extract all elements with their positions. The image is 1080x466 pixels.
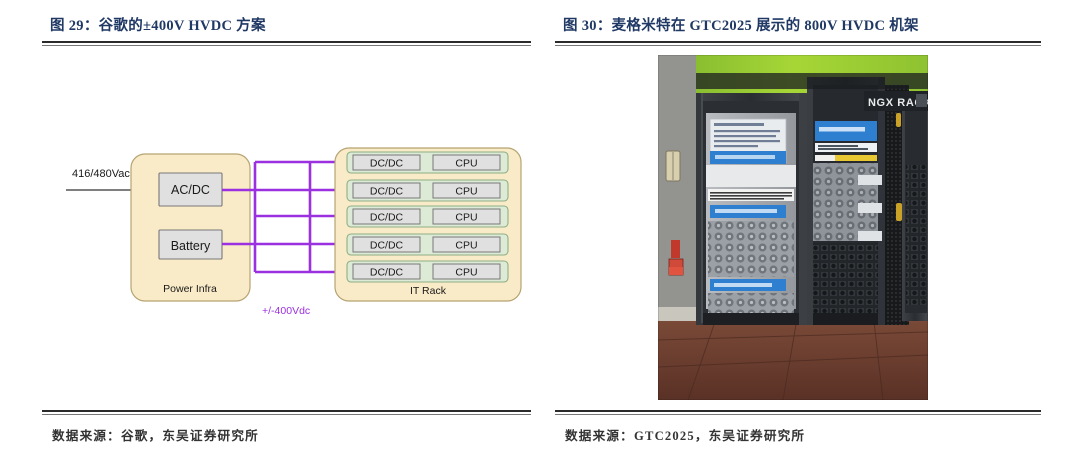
figure-29-source: 数据来源：谷歌，东吴证券研究所 xyxy=(52,425,259,444)
server-row: DC/DC CPU xyxy=(347,234,508,255)
figure-panel-right: 图 30：麦格米特在 GTC2025 展示的 800V HVDC 机架 xyxy=(555,0,1041,466)
cpu-label: CPU xyxy=(455,186,477,198)
cpu-label: CPU xyxy=(455,158,477,170)
power-infra-caption: Power Infra xyxy=(163,283,217,295)
dc-dc-label: DC/DC xyxy=(370,267,404,279)
dc-dc-label: DC/DC xyxy=(370,212,404,224)
shelf-label xyxy=(858,175,882,241)
server-row: DC/DC CPU xyxy=(347,152,508,173)
figure-29-title: 图 29：谷歌的±400V HVDC 方案 xyxy=(50,14,266,35)
dc-dc-label: DC/DC xyxy=(370,240,404,252)
battery-block: Battery xyxy=(159,230,222,259)
figure-30-source: 数据来源：GTC2025，东吴证券研究所 xyxy=(565,425,805,444)
figure-30-bottom-rule xyxy=(555,410,1041,415)
hvdc-block-diagram: 416/480Vac AC/DC Battery Power Infra xyxy=(42,48,531,404)
server-row: DC/DC CPU xyxy=(347,180,508,201)
figure-panel-left: 图 29：谷歌的±400V HVDC 方案 416/480Vac AC/DC xyxy=(42,0,531,466)
server-row: DC/DC CPU xyxy=(347,261,508,282)
server-row: DC/DC CPU xyxy=(347,206,508,227)
ac-dc-block: AC/DC xyxy=(159,173,222,206)
it-rack-caption: IT Rack xyxy=(410,285,447,297)
figure-30-title: 图 30：麦格米特在 GTC2025 展示的 800V HVDC 机架 xyxy=(563,14,919,35)
battery-label: Battery xyxy=(171,239,211,253)
figure-29-top-rule xyxy=(42,41,531,46)
rack-cabinet-1 xyxy=(696,93,807,325)
cpu-label: CPU xyxy=(455,212,477,224)
cpu-label: CPU xyxy=(455,240,477,252)
rack-cabinet-4: NGX RACK xyxy=(854,89,928,321)
ac-dc-label: AC/DC xyxy=(171,183,210,197)
dc-dc-label: DC/DC xyxy=(370,186,404,198)
figure-29-bottom-rule xyxy=(42,410,531,415)
figure-30-top-rule xyxy=(555,41,1041,46)
dc-dc-label: DC/DC xyxy=(370,158,404,170)
hvdc-rack-photo: NGX RACK xyxy=(658,55,928,400)
dc-bus-voltage-label: +/-400Vdc xyxy=(262,305,310,317)
cpu-label: CPU xyxy=(455,267,477,279)
report-page: 图 29：谷歌的±400V HVDC 方案 416/480Vac AC/DC xyxy=(0,0,1080,466)
input-voltage-label: 416/480Vac xyxy=(72,168,130,180)
